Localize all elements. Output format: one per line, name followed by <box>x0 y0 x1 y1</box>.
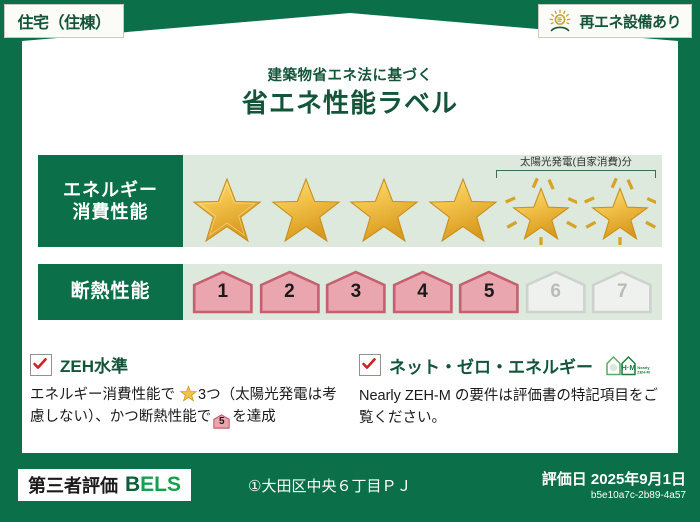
project-site-name: ①大田区中央６丁目ＰＪ <box>248 475 411 496</box>
renewable-equipment-chip: 再エネ設備あり <box>538 4 692 38</box>
bels-letter-b: B <box>125 473 140 496</box>
note-zeh-title: ZEH水準 <box>60 352 128 377</box>
notes-section: ZEH水準 エネルギー消費性能で 3つ（太陽光発電は考慮しない）、かつ断熱性能で… <box>30 352 670 430</box>
star-rating-group <box>189 177 658 243</box>
evaluation-id: b5e10a7c-2b89-4a57 <box>542 490 686 501</box>
bels-jp-label: 第三者評価 <box>28 472 118 498</box>
energy-performance-row: エネルギー 消費性能 太陽光発電(自家消費)分 <box>38 155 662 247</box>
insulation-grade-2: 2 <box>258 270 322 314</box>
insulation-performance-row: 断熱性能 1 2 3 4 5 <box>38 264 662 320</box>
label-subtitle: 建築物省エネ法に基づく <box>0 64 700 85</box>
evaluation-info: 評価日 2025年9月1日 b5e10a7c-2b89-4a57 <box>542 468 686 501</box>
footer-bar: 第三者評価 BELS ①大田区中央６丁目ＰＪ 評価日 2025年9月1日 b5e… <box>0 462 700 522</box>
insulation-grade-6: 6 <box>524 270 588 314</box>
energy-rating-area: 太陽光発電(自家消費)分 <box>183 155 662 247</box>
bels-letters-els: ELS <box>140 473 181 496</box>
inline-grade-value: 5 <box>213 414 230 430</box>
insulation-label: 断熱性能 <box>70 280 150 304</box>
label-title: 省エネ性能ラベル <box>0 83 700 120</box>
star-1 <box>189 177 266 243</box>
star-5-solar <box>503 177 580 243</box>
zeh-m-logo-icon: H·M Nearly ZEH-M <box>601 352 650 378</box>
checkbox-checked-icon <box>359 354 381 376</box>
note-zeh-body-part2: を達成 <box>232 409 276 425</box>
note-zeh-body: エネルギー消費性能で 3つ（太陽光発電は考慮しない）、かつ断熱性能で 5 を達成 <box>30 384 341 429</box>
note-zeh-standard: ZEH水準 エネルギー消費性能で 3つ（太陽光発電は考慮しない）、かつ断熱性能で… <box>30 352 341 430</box>
insulation-performance-label-box: 断熱性能 <box>38 264 183 320</box>
insulation-grade-3: 3 <box>324 270 388 314</box>
insulation-grade-1: 1 <box>191 270 255 314</box>
inline-grade-badge: 5 <box>213 414 230 429</box>
svg-text:ZEH-M: ZEH-M <box>637 370 650 375</box>
checkbox-checked-icon <box>30 354 52 376</box>
insulation-grade-5: 5 <box>457 270 521 314</box>
star-6-solar <box>582 177 659 243</box>
insulation-grade-4: 4 <box>391 270 455 314</box>
category-chip-label: 住宅（住棟） <box>17 9 110 33</box>
svg-text:H·M: H·M <box>621 363 635 372</box>
inline-star-icon <box>180 385 197 402</box>
evaluation-date: 評価日 2025年9月1日 <box>542 468 686 489</box>
energy-label-line2: 消費性能 <box>73 201 149 224</box>
insulation-grade-group: 1 2 3 4 5 6 7 <box>191 269 654 315</box>
solar-bracket-label: 太陽光発電(自家消費)分 <box>496 157 656 169</box>
bels-certification-chip: 第三者評価 BELS <box>18 469 191 501</box>
note-zeh-body-part1: エネルギー消費性能で <box>30 387 175 403</box>
energy-performance-label: 住宅（住棟） 再エネ設備あり <box>0 0 700 522</box>
star-4 <box>425 177 502 243</box>
insulation-rating-area: 1 2 3 4 5 6 7 <box>183 264 662 320</box>
star-3 <box>346 177 423 243</box>
star-2 <box>268 177 345 243</box>
energy-label-line1: エネルギー <box>63 179 158 202</box>
renewable-chip-label: 再エネ設備あり <box>579 11 681 32</box>
energy-performance-label-box: エネルギー 消費性能 <box>38 155 183 247</box>
insulation-grade-7: 7 <box>590 270 654 314</box>
solar-sun-icon <box>547 9 573 33</box>
note-nze-title: ネット・ゼロ・エネルギー <box>389 353 593 378</box>
note-net-zero-energy: ネット・ゼロ・エネルギー H·M Nearly ZEH-M Nearly ZEH… <box>359 352 670 430</box>
bels-en-label: BELS <box>125 473 181 497</box>
note-nze-body: Nearly ZEH-M の要件は評価書の特記項目をご覧ください。 <box>359 385 670 430</box>
note-nze-header: ネット・ゼロ・エネルギー H·M Nearly ZEH-M <box>359 352 670 378</box>
category-chip: 住宅（住棟） <box>4 4 124 38</box>
note-zeh-header: ZEH水準 <box>30 352 341 377</box>
